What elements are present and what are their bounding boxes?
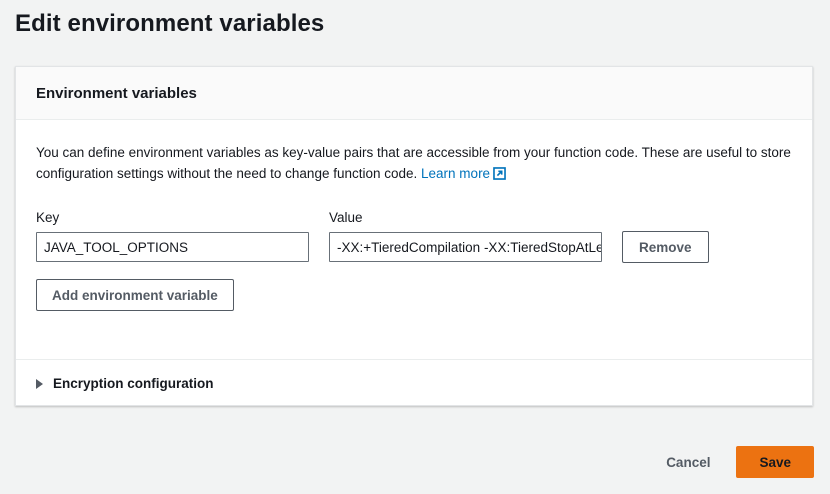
learn-more-link[interactable]: Learn more (421, 166, 506, 181)
form-actions: Cancel Save (652, 446, 814, 478)
external-link-icon (493, 165, 506, 186)
remove-button[interactable]: Remove (622, 231, 709, 263)
description-sentence: You can define environment variables as … (36, 145, 791, 181)
key-input[interactable]: JAVA_TOOL_OPTIONS (36, 232, 309, 262)
caret-right-icon (36, 379, 43, 389)
add-environment-variable-button[interactable]: Add environment variable (36, 279, 234, 311)
cancel-button[interactable]: Cancel (652, 447, 724, 478)
environment-variables-card: Environment variables You can define env… (15, 66, 813, 406)
description-text: You can define environment variables as … (36, 142, 792, 186)
key-input-value: JAVA_TOOL_OPTIONS (44, 240, 188, 255)
card-header-title: Environment variables (36, 85, 792, 102)
value-label: Value (329, 210, 622, 225)
encryption-configuration-label: Encryption configuration (53, 376, 214, 391)
key-value-labels: Key Value (36, 210, 792, 225)
page-title: Edit environment variables (15, 10, 324, 38)
card-header: Environment variables (16, 67, 812, 120)
value-input[interactable]: -XX:+TieredCompilation -XX:TieredStopAtL… (329, 232, 602, 262)
value-input-value: -XX:+TieredCompilation -XX:TieredStopAtL… (337, 240, 602, 255)
encryption-configuration-expander[interactable]: Encryption configuration (16, 360, 812, 405)
key-label: Key (36, 210, 329, 225)
save-button[interactable]: Save (736, 446, 814, 478)
learn-more-label: Learn more (421, 166, 490, 181)
environment-variable-row: JAVA_TOOL_OPTIONS -XX:+TieredCompilation… (36, 231, 792, 263)
card-body: You can define environment variables as … (16, 120, 812, 335)
